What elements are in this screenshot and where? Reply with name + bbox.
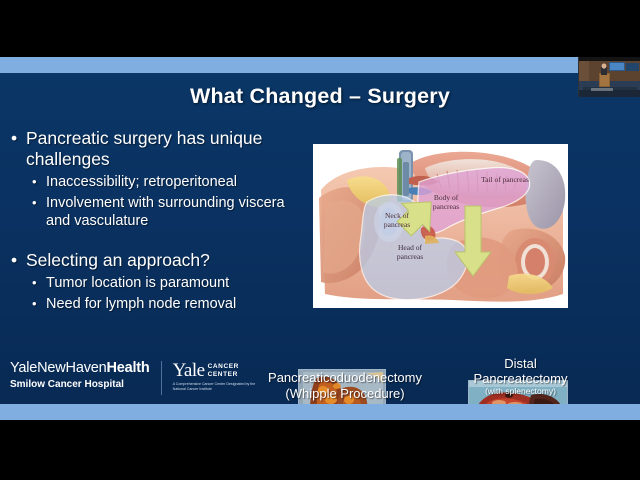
ynhh-wordmark: YaleNewHavenHealth bbox=[10, 360, 150, 376]
ycc-stack-line2: CENTER bbox=[208, 371, 239, 379]
presentation-slide: What Changed – Surgery • Pancreatic surg… bbox=[0, 73, 640, 404]
presenter-video-inset[interactable] bbox=[578, 57, 640, 97]
bullet-item-level2: • Inaccessibility; retroperitoneal bbox=[8, 173, 308, 191]
bullet-text: Selecting an approach? bbox=[26, 250, 210, 270]
slide-title: What Changed – Surgery bbox=[0, 84, 640, 109]
bullet-marker-icon: • bbox=[32, 173, 37, 191]
caption-distal-line2: Pancreatectomy bbox=[463, 371, 578, 386]
bullet-text: Inaccessibility; retroperitoneal bbox=[46, 174, 237, 190]
bullet-text: Involvement with surrounding viscera and… bbox=[46, 195, 285, 229]
logo-divider bbox=[161, 361, 162, 395]
caption-distal-sub: (with splenectomy) bbox=[463, 386, 578, 397]
bullet-group-spacer bbox=[8, 230, 308, 250]
yale-new-haven-health-logo: YaleNewHavenHealth Smilow Cancer Hospita… bbox=[10, 360, 150, 390]
bullet-marker-icon: • bbox=[11, 128, 17, 149]
slide-logo-bar: YaleNewHavenHealth Smilow Cancer Hospita… bbox=[10, 360, 259, 395]
caption-whipple: Pancreaticoduodenectomy (Whipple Procedu… bbox=[250, 370, 440, 402]
bullet-text: Pancreatic surgery has unique challenges bbox=[26, 128, 262, 169]
pancreas-anatomy-illustration bbox=[313, 144, 568, 308]
ynhh-wordmark-bold: Health bbox=[106, 360, 149, 376]
yale-cancer-center-logo: Yale CANCER CENTER A Comprehensive Cance… bbox=[173, 361, 259, 391]
video-player-frame: What Changed – Surgery • Pancreatic surg… bbox=[0, 0, 640, 480]
bullet-item-level1: • Pancreatic surgery has unique challeng… bbox=[8, 128, 308, 170]
yale-wordmark: Yale bbox=[173, 361, 205, 380]
bullet-item-level2: • Involvement with surrounding viscera a… bbox=[8, 194, 308, 230]
ynhh-wordmark-light: YaleNewHaven bbox=[10, 360, 106, 376]
slide-accent-band-bottom bbox=[0, 404, 640, 420]
pancreas-anatomy-figure: Tail of pancreas Body of pancreas Neck o… bbox=[313, 144, 568, 308]
bullet-text: Tumor location is paramount bbox=[46, 275, 229, 291]
letterbox-bar-bottom bbox=[0, 420, 640, 480]
bullet-item-level2: • Need for lymph node removal bbox=[8, 295, 308, 313]
letterbox-bar-top bbox=[0, 0, 640, 57]
caption-distal-line1: Distal bbox=[463, 356, 578, 371]
caption-whipple-line2: (Whipple Procedure) bbox=[250, 386, 440, 402]
smilow-cancer-hospital-label: Smilow Cancer Hospital bbox=[10, 379, 150, 390]
presenter-at-podium-thumbnail bbox=[579, 57, 640, 97]
caption-distal: Distal Pancreatectomy (with splenectomy) bbox=[463, 356, 578, 397]
slide-bullet-list: • Pancreatic surgery has unique challeng… bbox=[8, 128, 308, 313]
ycc-stack-text: CANCER CENTER bbox=[208, 363, 239, 378]
bullet-item-level2: • Tumor location is paramount bbox=[8, 274, 308, 292]
bullet-text: Need for lymph node removal bbox=[46, 296, 236, 312]
bullet-marker-icon: • bbox=[11, 250, 17, 271]
bullet-marker-icon: • bbox=[32, 194, 37, 212]
bullet-marker-icon: • bbox=[32, 274, 37, 292]
caption-whipple-line1: Pancreaticoduodenectomy bbox=[250, 370, 440, 386]
ycc-nci-designation-text: A Comprehensive Cancer Center Designated… bbox=[173, 382, 259, 391]
ycc-stack-line1: CANCER bbox=[208, 363, 239, 371]
bullet-item-level1: • Selecting an approach? bbox=[8, 250, 308, 271]
ycc-lockup: Yale CANCER CENTER bbox=[173, 361, 259, 380]
slide-accent-band-top bbox=[0, 57, 640, 73]
bullet-marker-icon: • bbox=[32, 295, 37, 313]
